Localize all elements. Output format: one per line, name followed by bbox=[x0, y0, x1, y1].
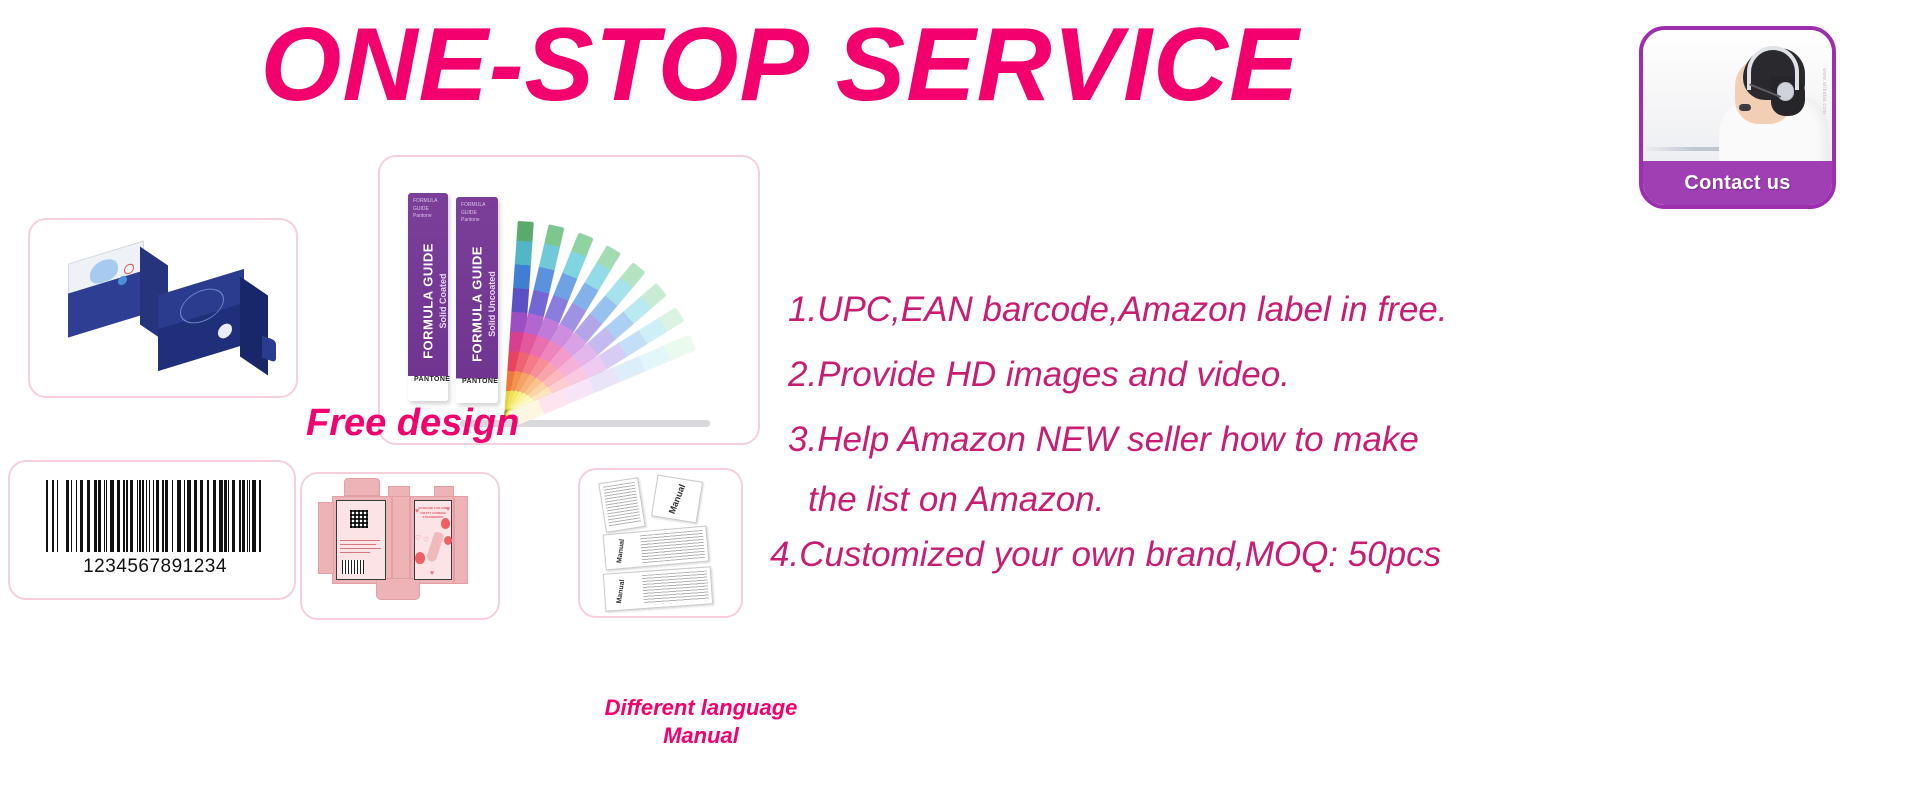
pantone-book-coated-sub: Solid Coated bbox=[438, 274, 448, 329]
barcode-bars bbox=[46, 480, 264, 552]
customer-service-agent-photo: www.alibaba.com bbox=[1643, 30, 1832, 169]
feature-item-4: 4.Customized your own brand,MOQ: 50pcs bbox=[770, 537, 1441, 572]
manual-caption-line-1: Different language bbox=[576, 694, 826, 722]
pantone-book-uncoated-sub: Solid Uncoated bbox=[487, 271, 497, 337]
contact-us-bar[interactable]: Contact us bbox=[1643, 161, 1832, 205]
barcode-label-card: 1234567891234 bbox=[8, 460, 296, 600]
packaging-dieline-card: BAREANE FUN AND FRUITY CONDOM STRAWBERRY… bbox=[300, 472, 500, 620]
packaging-dieline-artwork: BAREANE FUN AND FRUITY CONDOM STRAWBERRY… bbox=[302, 474, 498, 618]
pantone-book-coated-title: FORMULA GUIDE bbox=[421, 243, 436, 359]
headset-earcup-icon bbox=[1777, 82, 1794, 101]
one-stop-service-banner: ONE-STOP SERVICE bbox=[0, 0, 1920, 800]
manual-sheet-label-3: Manual bbox=[616, 579, 626, 604]
barcode-number: 1234567891234 bbox=[46, 556, 264, 578]
pantone-brand-label: PANTONE bbox=[414, 376, 450, 383]
photo-watermark: www.alibaba.com bbox=[1821, 68, 1827, 114]
free-design-label: Free design bbox=[306, 402, 519, 445]
rigid-gift-boxes-photo bbox=[30, 220, 296, 396]
feature-item-3-cont: the list on Amazon. bbox=[808, 482, 1104, 517]
pantone-book-coated: FORMULA GUIDE Pantone FORMULA GUIDE Soli… bbox=[408, 193, 448, 401]
pantone-brand-label-2: PANTONE bbox=[462, 378, 498, 385]
contact-us-label: Contact us bbox=[1684, 172, 1790, 195]
multi-language-manual-photo: Manual Manual Manual bbox=[580, 470, 741, 616]
feature-item-3: 3.Help Amazon NEW seller how to make bbox=[788, 422, 1419, 457]
manual-caption-line-2: Manual bbox=[576, 722, 826, 750]
pantone-book-uncoated-title: FORMULA GUIDE bbox=[470, 246, 485, 362]
pantone-book-cap-text: FORMULA GUIDE Pantone bbox=[413, 198, 443, 221]
page-title: ONE-STOP SERVICE bbox=[0, 6, 1560, 125]
feature-item-1: 1.UPC,EAN barcode,Amazon label in free. bbox=[788, 292, 1448, 327]
contact-us-badge[interactable]: www.alibaba.com Contact us bbox=[1639, 26, 1836, 209]
barcode-label: 1234567891234 bbox=[46, 480, 264, 578]
pantone-book-cap-text-2: FORMULA GUIDE Pantone bbox=[461, 202, 493, 225]
manual-sheet-label-1: Manual bbox=[667, 483, 687, 516]
pantone-formula-guide-photo: FORMULA GUIDE Pantone FORMULA GUIDE Soli… bbox=[408, 179, 738, 427]
manual-photo-card: Manual Manual Manual bbox=[578, 468, 743, 618]
manual-caption: Different language Manual bbox=[576, 694, 826, 749]
pantone-book-uncoated: FORMULA GUIDE Pantone FORMULA GUIDE Soli… bbox=[456, 197, 498, 403]
headset-mic-icon bbox=[1739, 104, 1751, 111]
feature-item-2: 2.Provide HD images and video. bbox=[788, 357, 1290, 392]
rigid-gift-boxes-photo-card bbox=[28, 218, 298, 398]
manual-sheet-label-2: Manual bbox=[616, 539, 626, 564]
